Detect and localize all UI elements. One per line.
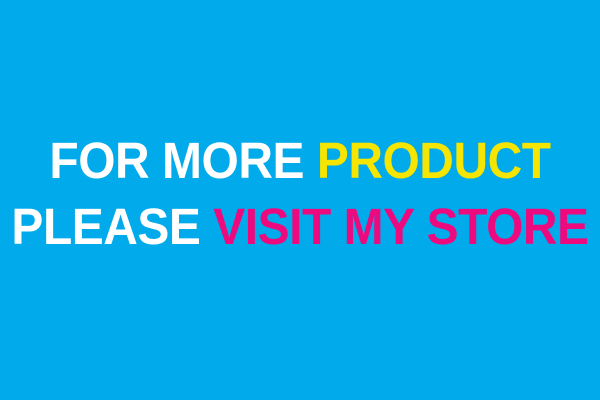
- banner-headline-line-2: PLEASE VISIT MY STORE: [0, 194, 600, 260]
- headline-line-2-space: [200, 198, 213, 255]
- banner-text-block: FOR MORE PRODUCT PLEASE VISIT MY STORE: [0, 128, 600, 260]
- headline-line-2-accent-segment: VISIT MY STORE: [213, 198, 588, 255]
- headline-line-1-white-segment: FOR MORE: [49, 132, 304, 189]
- banner-headline-line-1: FOR MORE PRODUCT: [0, 128, 600, 194]
- headline-line-1-space: [304, 132, 317, 189]
- headline-line-1-accent-segment: PRODUCT: [317, 132, 551, 189]
- headline-line-2-white-segment: PLEASE: [11, 198, 200, 255]
- promo-banner: FOR MORE PRODUCT PLEASE VISIT MY STORE: [0, 0, 600, 400]
